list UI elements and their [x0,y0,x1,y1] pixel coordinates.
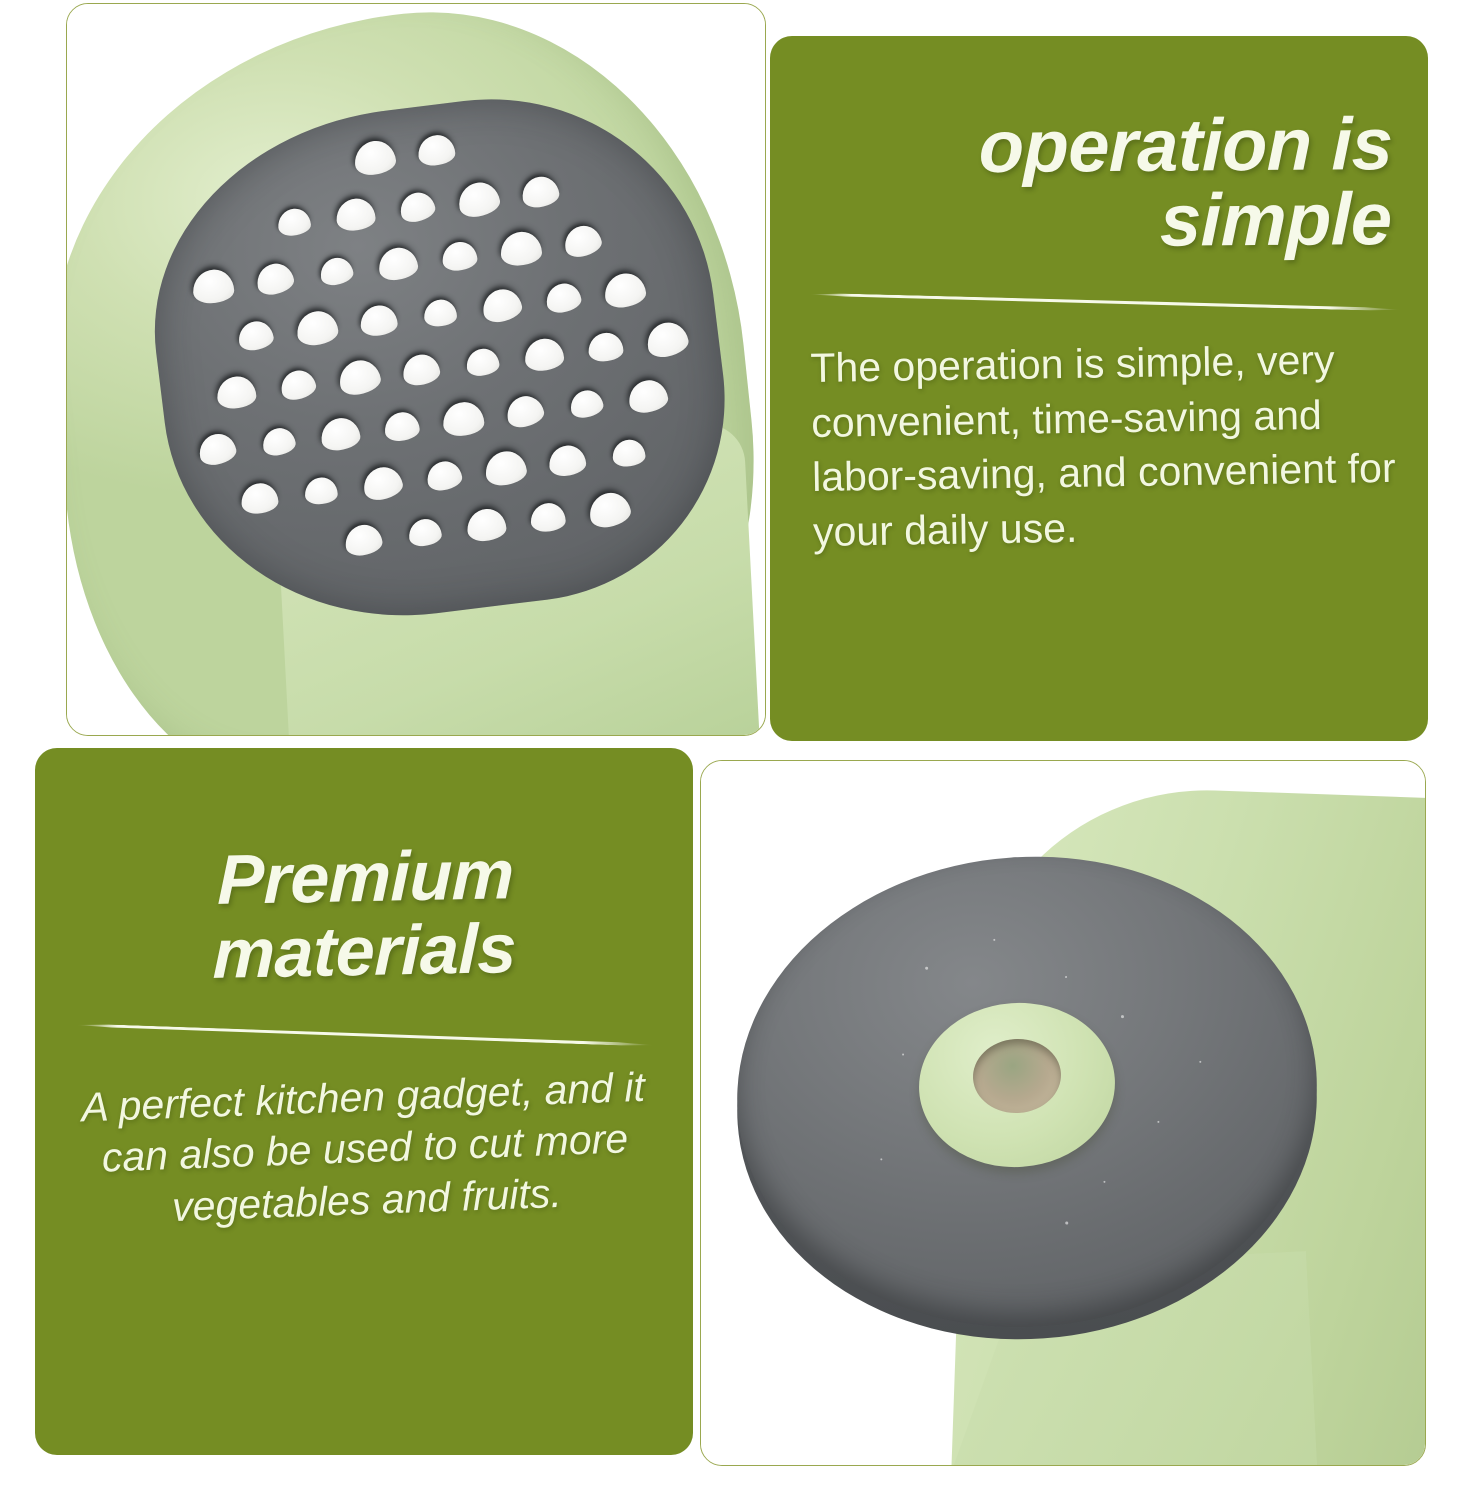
heading-divider-operation [810,295,1400,309]
blade-surface-speck [1065,976,1067,978]
grater-hole [237,319,275,352]
grater-hole [254,261,296,298]
grater-hole [586,489,633,530]
grater-hole [644,319,691,360]
grater-hole [397,190,437,225]
grater-hole [504,393,546,430]
panel-body-premium: A perfect kitchen gadget, and it can als… [74,1062,655,1237]
grater-hole [442,401,485,437]
grater-hole [196,431,238,468]
grater-hole [424,299,458,327]
grater-hole [277,207,312,236]
grater-hole [337,357,383,397]
grater-hole [548,444,587,477]
grater-hole [425,459,464,492]
grater-hole [295,309,339,347]
blade-surface-speck [925,967,928,970]
grater-hole [361,464,405,503]
product-photo-card-blade [700,760,1426,1466]
grater-hole [377,246,420,282]
grater-hole [466,508,507,542]
text-panel-premium-materials: Premium materials A perfect kitchen gadg… [35,748,693,1455]
grater-hole [192,269,234,304]
blade-surface-speck [1199,1061,1201,1063]
blade-surface-speck [1157,1120,1159,1122]
grater-hole [261,426,297,457]
grater-hole [500,231,543,267]
grater-hole [407,518,442,548]
product-photo-card-grater [66,3,766,736]
grater-hole [465,347,500,377]
grater-hole [568,388,605,420]
grater-hole [240,482,279,515]
grater-hole [441,241,478,272]
blade-surface-speck [880,1159,882,1161]
grater-hole [318,256,354,287]
grater-hole [480,286,524,325]
grater-hole [278,367,318,402]
panel-heading-premium: Premium materials [76,834,655,993]
grater-hole [524,337,565,371]
grater-hole [336,198,377,232]
grater-hole [627,378,670,415]
grater-hole [401,352,442,387]
grater-hole [417,134,456,167]
grater-hole [216,376,257,410]
grater-hole [343,523,384,558]
infographic-root: operation is simple The operation is sim… [0,0,1461,1500]
blade-scene [701,761,1425,1465]
grater-scene [67,4,765,735]
grater-hole [530,503,566,533]
grater-hole [383,411,420,442]
text-panel-operation-is-simple: operation is simple The operation is sim… [770,36,1428,741]
grater-hole [603,271,648,309]
blade-surface-speck [902,1053,904,1055]
grater-hole [359,304,398,337]
grater-hole [544,281,583,314]
grater-hole [588,332,624,362]
grater-hole [319,416,362,452]
grater-hole [520,174,561,209]
blade-surface-speck [1103,1181,1105,1183]
heading-divider-premium [77,1028,653,1042]
grater-hole [483,449,528,487]
grater-hole [456,179,502,219]
grater-hole [612,439,646,467]
panel-heading-operation: operation is simple [809,106,1401,261]
grater-hole [353,139,397,177]
blade-surface-speck [993,939,995,941]
grater-hole [562,223,604,260]
blade-surface-speck [1065,1221,1068,1224]
panel-body-operation: The operation is simple, very convenient… [810,332,1403,559]
grater-hole [304,477,338,505]
blade-surface-speck [1120,1015,1123,1018]
